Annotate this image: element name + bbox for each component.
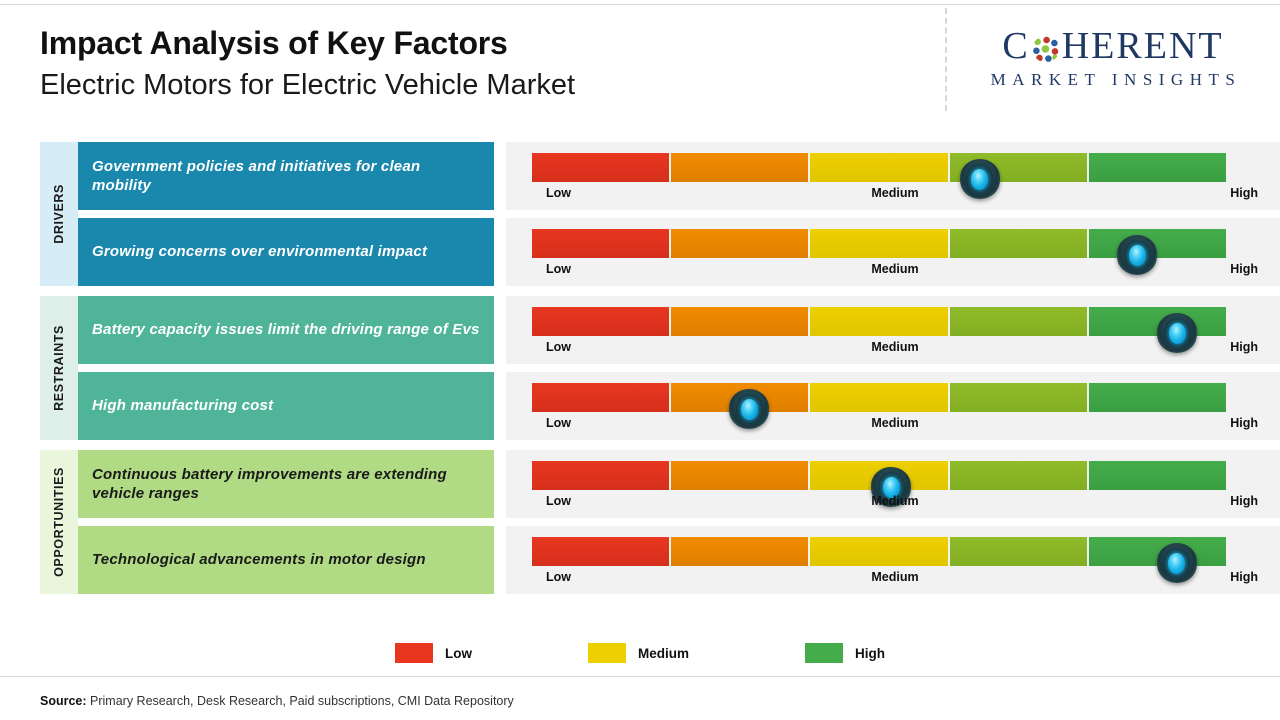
page-subtitle: Electric Motors for Electric Vehicle Mar… — [40, 70, 575, 102]
source-note: Source: Primary Research, Desk Research,… — [40, 694, 514, 708]
factor-box[interactable]: Growing concerns over environmental impa… — [78, 218, 494, 286]
scale-label-medium: Medium — [871, 340, 918, 354]
factor-box[interactable]: Technological advancements in motor desi… — [78, 526, 494, 594]
impact-board: DRIVERSGovernment policies and initiativ… — [0, 142, 1280, 594]
scale-label-high: High — [1230, 570, 1258, 584]
factor-box[interactable]: Continuous battery improvements are exte… — [78, 450, 494, 518]
gauge-scale-labels: LowMediumHigh — [532, 416, 1258, 432]
source-label: Source: — [40, 694, 87, 708]
legend-label: High — [855, 646, 885, 661]
gauge-bar — [532, 307, 1226, 336]
gauge-segment-1 — [532, 537, 669, 566]
gauge-list: LowMediumHighLowMediumHigh — [506, 296, 1280, 440]
impact-gauge: LowMediumHigh — [506, 142, 1280, 210]
brand-rest: HERENT — [1062, 24, 1224, 68]
factor-group-restraints: RESTRAINTSBattery capacity issues limit … — [40, 296, 1280, 440]
header: Impact Analysis of Key Factors Electric … — [40, 26, 575, 102]
scale-label-medium: Medium — [871, 262, 918, 276]
gauge-segment-3 — [810, 229, 947, 258]
legend-swatch-high — [805, 643, 843, 663]
scale-label-medium: Medium — [871, 186, 918, 200]
gauge-scale-labels: LowMediumHigh — [532, 494, 1258, 510]
scale-label-medium: Medium — [871, 494, 918, 508]
legend-label: Low — [445, 646, 472, 661]
factor-text: Battery capacity issues limit the drivin… — [92, 320, 480, 339]
factor-text: Technological advancements in motor desi… — [92, 550, 426, 569]
factor-list: Government policies and initiatives for … — [78, 142, 494, 286]
gauge-segment-3 — [810, 307, 947, 336]
factor-list: Battery capacity issues limit the drivin… — [78, 296, 494, 440]
group-label-opportunities: OPPORTUNITIES — [40, 450, 78, 594]
group-label-text: RESTRAINTS — [52, 325, 66, 411]
impact-gauge: LowMediumHigh — [506, 526, 1280, 594]
scale-label-high: High — [1230, 262, 1258, 276]
factor-box[interactable]: Battery capacity issues limit the drivin… — [78, 296, 494, 364]
legend-item: Low — [395, 643, 472, 663]
brand-name: C HERENT — [963, 24, 1263, 68]
group-label-restraints: RESTRAINTS — [40, 296, 78, 440]
legend: LowMediumHigh — [0, 643, 1280, 663]
gauge-bar — [532, 461, 1226, 490]
factor-text: High manufacturing cost — [92, 396, 273, 415]
factor-group-opportunities: OPPORTUNITIESContinuous battery improvem… — [40, 450, 1280, 594]
brand-logo: C HERENT MARKET INSIGHTS — [963, 24, 1263, 90]
brand-tagline: MARKET INSIGHTS — [963, 70, 1263, 90]
scale-label-low: Low — [546, 340, 571, 354]
gauge-segment-4 — [950, 307, 1087, 336]
scale-label-low: Low — [546, 494, 571, 508]
gauge-segment-5 — [1089, 229, 1226, 258]
scale-label-high: High — [1230, 416, 1258, 430]
gauge-list: LowMediumHighLowMediumHigh — [506, 450, 1280, 594]
logo-divider — [945, 8, 947, 111]
group-label-text: DRIVERS — [52, 184, 66, 244]
factor-list: Continuous battery improvements are exte… — [78, 450, 494, 594]
gauge-segment-2 — [671, 307, 808, 336]
gauge-segment-3 — [810, 153, 947, 182]
gauge-segment-4 — [950, 461, 1087, 490]
scale-label-low: Low — [546, 262, 571, 276]
gauge-scale-labels: LowMediumHigh — [532, 186, 1258, 202]
factor-box[interactable]: High manufacturing cost — [78, 372, 494, 440]
gauge-segment-1 — [532, 229, 669, 258]
globe-dots-icon — [1031, 34, 1061, 64]
top-divider — [0, 4, 1280, 5]
factor-box[interactable]: Government policies and initiatives for … — [78, 142, 494, 210]
gauge-segment-5 — [1089, 153, 1226, 182]
gauge-scale-labels: LowMediumHigh — [532, 262, 1258, 278]
gauge-segment-3 — [810, 383, 947, 412]
gauge-segment-1 — [532, 383, 669, 412]
scale-label-high: High — [1230, 186, 1258, 200]
factor-text: Growing concerns over environmental impa… — [92, 242, 427, 261]
gauge-segment-4 — [950, 383, 1087, 412]
gauge-segment-5 — [1089, 461, 1226, 490]
scale-label-high: High — [1230, 494, 1258, 508]
scale-label-medium: Medium — [871, 570, 918, 584]
gauge-segment-2 — [671, 153, 808, 182]
scale-label-medium: Medium — [871, 416, 918, 430]
legend-item: Medium — [588, 643, 689, 663]
gauge-bar — [532, 153, 1226, 182]
factor-text: Government policies and initiatives for … — [92, 157, 480, 195]
page-title: Impact Analysis of Key Factors — [40, 26, 575, 61]
factor-group-drivers: DRIVERSGovernment policies and initiativ… — [40, 142, 1280, 286]
gauge-segment-1 — [532, 153, 669, 182]
gauge-segment-2 — [671, 537, 808, 566]
scale-label-high: High — [1230, 340, 1258, 354]
brand-letter-c: C — [1002, 24, 1029, 68]
group-label-text: OPPORTUNITIES — [52, 467, 66, 577]
group-label-drivers: DRIVERS — [40, 142, 78, 286]
gauge-segment-2 — [671, 229, 808, 258]
gauge-segment-4 — [950, 537, 1087, 566]
impact-gauge: LowMediumHigh — [506, 218, 1280, 286]
gauge-scale-labels: LowMediumHigh — [532, 340, 1258, 356]
gauge-list: LowMediumHighLowMediumHigh — [506, 142, 1280, 286]
gauge-segment-1 — [532, 307, 669, 336]
legend-swatch-low — [395, 643, 433, 663]
gauge-segment-3 — [810, 537, 947, 566]
bottom-divider — [0, 676, 1280, 677]
gauge-bar — [532, 537, 1226, 566]
gauge-segment-5 — [1089, 383, 1226, 412]
impact-gauge: LowMediumHigh — [506, 296, 1280, 364]
source-text: Primary Research, Desk Research, Paid su… — [87, 694, 514, 708]
gauge-segment-4 — [950, 229, 1087, 258]
gauge-bar — [532, 383, 1226, 412]
gauge-segment-2 — [671, 461, 808, 490]
gauge-bar — [532, 229, 1226, 258]
legend-item: High — [805, 643, 885, 663]
gauge-segment-1 — [532, 461, 669, 490]
scale-label-low: Low — [546, 570, 571, 584]
legend-swatch-medium — [588, 643, 626, 663]
factor-text: Continuous battery improvements are exte… — [92, 465, 480, 503]
impact-gauge: LowMediumHigh — [506, 450, 1280, 518]
scale-label-low: Low — [546, 416, 571, 430]
impact-gauge: LowMediumHigh — [506, 372, 1280, 440]
legend-label: Medium — [638, 646, 689, 661]
scale-label-low: Low — [546, 186, 571, 200]
gauge-scale-labels: LowMediumHigh — [532, 570, 1258, 586]
